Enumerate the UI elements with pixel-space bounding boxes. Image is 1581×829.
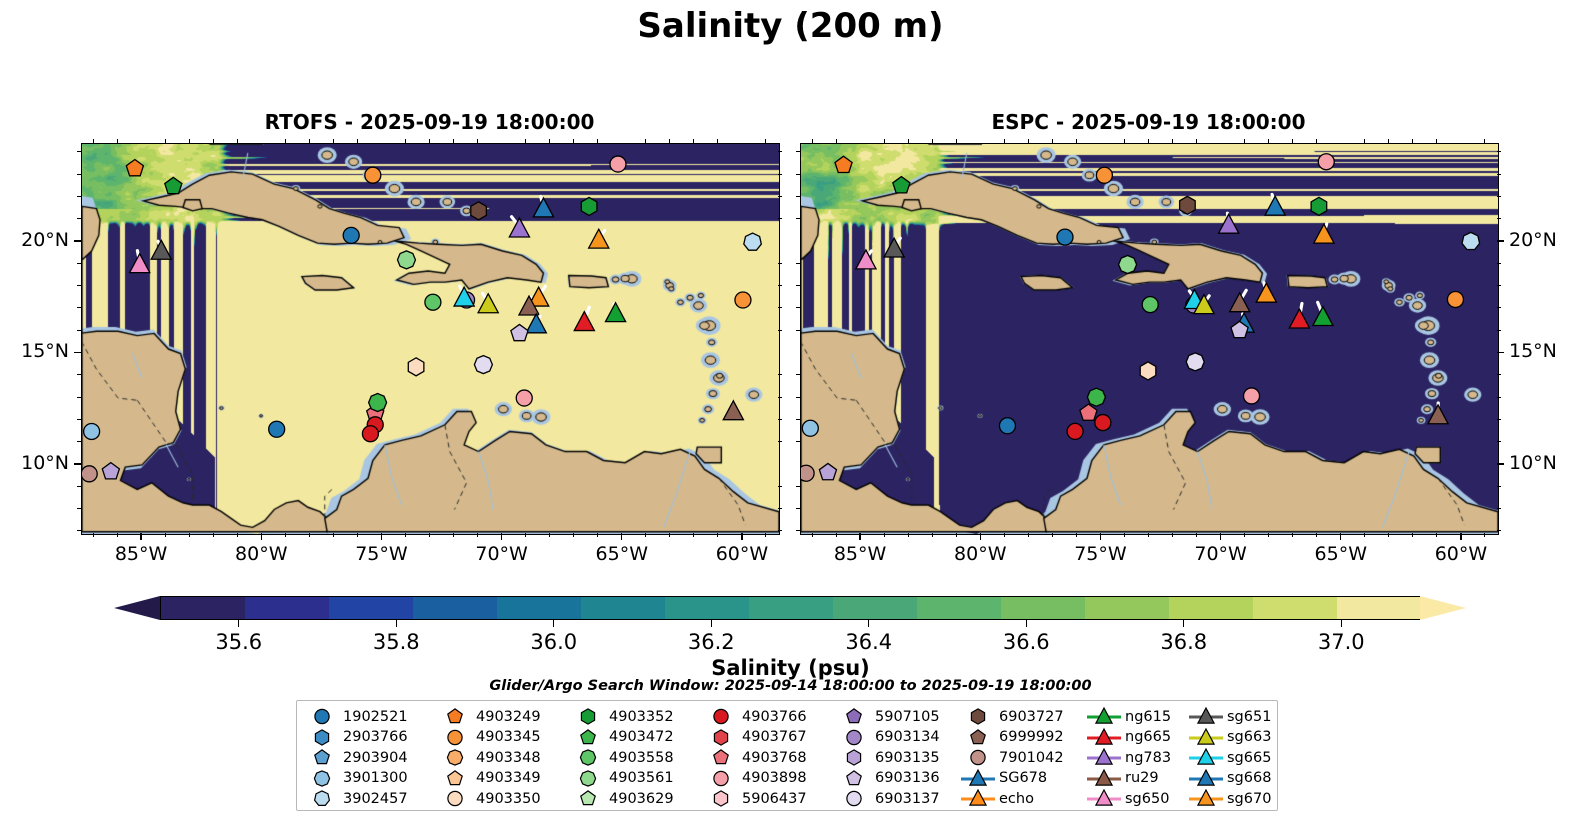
map-marker[interactable] — [471, 202, 487, 220]
x-minor-tick-top — [1268, 139, 1269, 143]
map-marker[interactable] — [1447, 291, 1463, 307]
map-marker[interactable] — [1180, 196, 1196, 214]
y-minor-tick — [1497, 330, 1501, 331]
legend-item[interactable]: 4903766 — [702, 706, 835, 727]
map-axes-espc[interactable] — [800, 143, 1499, 535]
colorbar-tick — [1341, 620, 1342, 627]
y-minor-tick — [1497, 486, 1501, 487]
x-minor-tick — [884, 533, 885, 537]
y-minor-tick-opp — [778, 174, 782, 175]
x-minor-tick — [765, 533, 766, 537]
legend-item[interactable]: sg651 — [1187, 706, 1285, 727]
y-minor-tick-opp — [796, 307, 800, 308]
map-marker[interactable] — [835, 156, 852, 172]
y-tick — [1497, 352, 1504, 353]
legend-item[interactable]: echo — [959, 788, 1085, 809]
map-marker[interactable] — [478, 294, 498, 313]
legend-item[interactable]: 6903134 — [835, 727, 959, 748]
map-marker[interactable] — [362, 426, 378, 442]
legend-item[interactable]: 4903472 — [569, 727, 702, 748]
x-minor-tick-top — [1484, 139, 1485, 143]
x-minor-tick — [1076, 533, 1077, 537]
x-minor-tick-top — [932, 139, 933, 143]
legend-item[interactable]: SG678 — [959, 768, 1085, 789]
legend-marker-icon — [702, 727, 740, 748]
map-marker[interactable] — [1057, 229, 1073, 245]
legend-item[interactable]: 3901300 — [303, 768, 436, 789]
map-marker[interactable] — [589, 229, 609, 248]
map-marker[interactable] — [126, 160, 143, 176]
y-tick — [1497, 463, 1504, 464]
legend-item[interactable]: ng783 — [1085, 747, 1187, 768]
y-minor-tick — [1497, 419, 1501, 420]
colorbar-tick-label: 37.0 — [1291, 630, 1391, 654]
map-marker[interactable] — [1095, 415, 1111, 431]
x-minor-tick-top — [189, 139, 190, 143]
legend-item-label: 5906437 — [740, 791, 807, 807]
legend-marker-icon — [569, 768, 607, 789]
x-minor-tick-top — [1076, 139, 1077, 143]
y-minor-tick — [77, 285, 81, 286]
x-minor-tick-top — [1388, 139, 1389, 143]
y-minor-tick-opp — [778, 218, 782, 219]
map-marker[interactable] — [1462, 232, 1480, 249]
map-marker[interactable] — [1318, 154, 1334, 170]
x-minor-tick — [477, 533, 478, 537]
legend-marker-icon — [1187, 706, 1225, 727]
map-marker[interactable] — [526, 314, 546, 333]
x-minor-tick-top — [1052, 139, 1053, 143]
colorbar-segment — [581, 597, 666, 619]
colorbar-tick — [396, 620, 397, 627]
y-minor-tick — [1497, 307, 1501, 308]
map-marker[interactable] — [1186, 353, 1204, 371]
map-marker[interactable] — [1080, 404, 1097, 420]
legend-marker-icon — [702, 768, 740, 789]
map-marker[interactable] — [533, 198, 553, 217]
legend-item-label: 4903561 — [607, 770, 674, 786]
legend-marker-icon — [702, 706, 740, 727]
legend-item[interactable]: 5906437 — [702, 788, 835, 809]
map-marker[interactable] — [1230, 293, 1250, 312]
x-minor-tick-top — [956, 139, 957, 143]
y-minor-tick — [77, 419, 81, 420]
legend-marker-icon — [303, 788, 341, 809]
x-tick — [859, 533, 860, 540]
map-marker[interactable] — [610, 156, 626, 172]
x-minor-tick — [1004, 533, 1005, 537]
y-minor-tick-opp — [778, 285, 782, 286]
map-marker[interactable] — [1219, 214, 1239, 233]
x-minor-tick-top — [477, 139, 478, 143]
legend-marker-icon — [436, 788, 474, 809]
legend-item-label: 3901300 — [341, 770, 408, 786]
legend-marker-icon — [436, 727, 474, 748]
legend-item[interactable]: 4903249 — [436, 706, 569, 727]
legend-item[interactable]: 4903629 — [569, 788, 702, 809]
y-minor-tick-opp — [796, 374, 800, 375]
x-minor-tick — [1148, 533, 1149, 537]
legend-item-label: 2903766 — [341, 729, 408, 745]
legend-marker-icon — [303, 768, 341, 789]
legend-item[interactable]: ng615 — [1085, 706, 1187, 727]
colorbar-extend-max — [1420, 596, 1466, 620]
y-minor-tick-opp — [778, 374, 782, 375]
y-minor-tick — [1497, 374, 1501, 375]
legend-marker-icon — [959, 706, 997, 727]
x-minor-tick-top — [597, 139, 598, 143]
x-minor-tick — [117, 533, 118, 537]
legend-item-label: SG678 — [997, 770, 1047, 786]
legend-item-label: sg651 — [1225, 709, 1271, 725]
legend-item[interactable]: 6903136 — [835, 768, 959, 789]
legend-item[interactable]: 4903349 — [436, 768, 569, 789]
y-minor-tick — [77, 441, 81, 442]
map-marker[interactable] — [509, 218, 529, 237]
x-minor-tick — [549, 533, 550, 537]
x-minor-tick — [597, 533, 598, 537]
x-minor-tick-top — [1004, 139, 1005, 143]
map-marker[interactable] — [802, 420, 818, 436]
legend-item[interactable]: ru29 — [1085, 768, 1187, 789]
legend-marker-icon — [1187, 788, 1225, 809]
legend-column-4: 49037664903767490376849038985906437 — [702, 701, 835, 810]
x-minor-tick — [1292, 533, 1293, 537]
legend-item[interactable]: 2903766 — [303, 727, 436, 748]
legend-item[interactable]: 2903904 — [303, 747, 436, 768]
legend-item[interactable]: sg665 — [1187, 747, 1285, 768]
legend-item[interactable]: sg663 — [1187, 727, 1285, 748]
legend-item-label: 4903768 — [740, 750, 807, 766]
x-minor-tick-top — [549, 139, 550, 143]
x-tick — [261, 533, 262, 540]
legend-marker-icon — [1085, 727, 1123, 748]
colorbar-tick-label: 36.6 — [976, 630, 1076, 654]
x-minor-tick-top — [117, 139, 118, 143]
colorbar-segment — [161, 597, 246, 619]
x-minor-tick-top — [1172, 139, 1173, 143]
x-minor-tick — [525, 533, 526, 537]
y-tick-label: 10°N — [0, 452, 69, 474]
y-minor-tick — [1497, 174, 1501, 175]
x-minor-tick — [908, 533, 909, 537]
legend-item[interactable]: 4903350 — [436, 788, 569, 809]
legend-item[interactable]: 6903727 — [959, 706, 1085, 727]
legend-item-label: echo — [997, 791, 1034, 807]
legend-item-label: 4903767 — [740, 729, 807, 745]
x-minor-tick — [429, 533, 430, 537]
map-marker[interactable] — [1314, 224, 1334, 243]
map-marker[interactable] — [151, 240, 171, 259]
colorbar-label: Salinity (psu) — [0, 656, 1581, 680]
x-minor-tick-top — [645, 139, 646, 143]
y-minor-tick — [1497, 151, 1501, 152]
x-minor-tick-top — [333, 139, 334, 143]
map-marker[interactable] — [102, 463, 119, 479]
x-minor-tick — [357, 533, 358, 537]
legend-item-label: 4903558 — [607, 750, 674, 766]
legend-item-label: 4903348 — [474, 750, 541, 766]
y-minor-tick — [77, 374, 81, 375]
legend-item[interactable]: 4903348 — [436, 747, 569, 768]
legend-item[interactable]: 6999992 — [959, 727, 1085, 748]
colorbar-segment — [329, 597, 414, 619]
x-tick — [621, 533, 622, 540]
legend-item-label: 1902521 — [341, 709, 408, 725]
x-minor-tick — [573, 533, 574, 537]
x-minor-tick-top — [357, 139, 358, 143]
map-marker[interactable] — [723, 401, 743, 420]
map-marker[interactable] — [581, 197, 597, 215]
legend-item[interactable]: 4903561 — [569, 768, 702, 789]
colorbar-segment — [665, 597, 750, 619]
legend-item[interactable]: 7901042 — [959, 747, 1085, 768]
map-marker[interactable] — [269, 421, 285, 437]
x-minor-tick-top — [669, 139, 670, 143]
x-minor-tick — [1436, 533, 1437, 537]
colorbar-tick-label: 36.4 — [819, 630, 919, 654]
legend-marker-icon — [436, 706, 474, 727]
x-minor-tick — [189, 533, 190, 537]
colorbar-tick — [1183, 620, 1184, 627]
y-tick — [1497, 240, 1504, 241]
y-minor-tick — [77, 263, 81, 264]
map-marker[interactable] — [893, 177, 910, 193]
legend-marker-icon — [1085, 768, 1123, 789]
legend-item-label: 5907105 — [873, 709, 940, 725]
map-marker[interactable] — [1096, 167, 1112, 183]
x-minor-tick-top — [1028, 139, 1029, 143]
map-marker[interactable] — [1428, 405, 1448, 424]
map-marker[interactable] — [425, 294, 441, 310]
legend-item[interactable]: 6903137 — [835, 788, 959, 809]
y-minor-tick — [77, 508, 81, 509]
legend-item[interactable]: ng665 — [1085, 727, 1187, 748]
map-marker[interactable] — [1142, 297, 1158, 313]
legend-item[interactable]: sg668 — [1187, 768, 1285, 789]
x-minor-tick-top — [908, 139, 909, 143]
x-minor-tick-top — [1244, 139, 1245, 143]
x-minor-tick-top — [165, 139, 166, 143]
marker-overlay-rtofs — [82, 144, 779, 534]
x-tick-label: 85°W — [820, 543, 900, 565]
x-minor-tick-top — [453, 139, 454, 143]
map-marker[interactable] — [744, 233, 762, 250]
y-minor-tick-opp — [796, 330, 800, 331]
x-minor-tick — [1196, 533, 1197, 537]
legend-item[interactable]: 4903768 — [702, 747, 835, 768]
map-marker[interactable] — [735, 292, 751, 308]
map-marker[interactable] — [1119, 256, 1137, 274]
y-minor-tick-opp — [796, 486, 800, 487]
legend-column-6: 690372769999927901042SG678echo — [959, 701, 1085, 810]
y-minor-tick-opp — [796, 508, 800, 509]
x-tick — [381, 533, 382, 540]
x-minor-tick-top — [237, 139, 238, 143]
colorbar-tick — [711, 620, 712, 627]
legend-marker-icon — [569, 727, 607, 748]
x-minor-tick-top — [93, 139, 94, 143]
legend-item-label: 4903629 — [607, 791, 674, 807]
y-minor-tick — [77, 486, 81, 487]
map-marker[interactable] — [82, 466, 97, 482]
map-marker[interactable] — [1087, 388, 1105, 406]
x-minor-tick-top — [884, 139, 885, 143]
colorbar-segment — [1169, 597, 1254, 619]
y-minor-tick — [1497, 441, 1501, 442]
y-minor-tick-opp — [796, 263, 800, 264]
x-minor-tick — [165, 533, 166, 537]
map-marker[interactable] — [365, 167, 381, 183]
map-marker[interactable] — [1265, 196, 1285, 215]
map-axes-rtofs[interactable] — [81, 143, 780, 535]
legend-marker-icon — [835, 727, 873, 748]
x-tick — [1340, 533, 1341, 540]
y-tick — [74, 463, 81, 464]
legend-item-label: ru29 — [1123, 770, 1159, 786]
x-minor-tick — [405, 533, 406, 537]
y-minor-tick — [77, 530, 81, 531]
legend-marker-icon — [835, 706, 873, 727]
x-tick — [741, 533, 742, 540]
x-minor-tick-top — [429, 139, 430, 143]
legend-item-label: 4903472 — [607, 729, 674, 745]
y-tick-label: 15°N — [0, 340, 69, 362]
legend-item[interactable]: 4903767 — [702, 727, 835, 748]
y-minor-tick-opp — [778, 530, 782, 531]
y-minor-tick — [77, 307, 81, 308]
colorbar-tick-label: 36.8 — [1134, 630, 1234, 654]
map-marker[interactable] — [474, 356, 492, 374]
map-marker[interactable] — [1067, 423, 1083, 439]
colorbar-tick — [553, 620, 554, 627]
legend-marker-icon — [1085, 706, 1123, 727]
legend-marker-icon — [959, 747, 997, 768]
colorbar-segment — [833, 597, 918, 619]
x-tick-label: 75°W — [1060, 543, 1140, 565]
y-minor-tick-opp — [796, 151, 800, 152]
legend-marker-icon — [303, 747, 341, 768]
map-marker[interactable] — [1313, 307, 1333, 326]
search-window-caption: Glider/Argo Search Window: 2025-09-14 18… — [0, 678, 1581, 694]
legend-column-3: 49033524903472490355849035614903629 — [569, 701, 702, 810]
map-marker[interactable] — [605, 303, 625, 322]
colorbar-tick-label: 35.6 — [189, 630, 289, 654]
map-marker[interactable] — [819, 463, 836, 479]
x-tick-label: 60°W — [1421, 543, 1501, 565]
x-minor-tick — [1388, 533, 1389, 537]
x-tick — [1460, 533, 1461, 540]
legend-item-label: 6903134 — [873, 729, 940, 745]
x-minor-tick — [93, 533, 94, 537]
map-marker[interactable] — [84, 423, 100, 439]
y-minor-tick-opp — [778, 397, 782, 398]
map-marker[interactable] — [999, 418, 1015, 434]
legend-marker-icon — [835, 768, 873, 789]
x-minor-tick — [309, 533, 310, 537]
x-minor-tick-top — [1364, 139, 1365, 143]
legend-item-label: 6903727 — [997, 709, 1064, 725]
map-marker[interactable] — [397, 251, 415, 269]
map-marker[interactable] — [1311, 197, 1327, 215]
map-marker[interactable] — [165, 177, 182, 193]
y-minor-tick-opp — [796, 530, 800, 531]
map-marker[interactable] — [1289, 309, 1309, 328]
legend-item[interactable]: sg650 — [1085, 788, 1187, 809]
legend-item[interactable]: 4903558 — [569, 747, 702, 768]
legend-item[interactable]: 1902521 — [303, 706, 436, 727]
legend-item-label: ng783 — [1123, 750, 1171, 766]
legend-marker-icon — [1187, 747, 1225, 768]
legend-item[interactable]: 6903135 — [835, 747, 959, 768]
legend-item[interactable]: 4903352 — [569, 706, 702, 727]
y-tick-label: 20°N — [1509, 229, 1557, 251]
x-minor-tick — [213, 533, 214, 537]
marker-overlay-espc — [801, 144, 1498, 534]
panel-title-espc: ESPC - 2025-09-19 18:00:00 — [800, 110, 1497, 134]
colorbar-tick — [238, 620, 239, 627]
y-minor-tick — [1497, 508, 1501, 509]
colorbar-tick-label: 36.2 — [661, 630, 761, 654]
map-marker[interactable] — [884, 238, 904, 257]
legend-marker-icon — [959, 727, 997, 748]
legend-item[interactable]: 5907105 — [835, 706, 959, 727]
map-marker[interactable] — [369, 394, 387, 412]
map-marker[interactable] — [1244, 388, 1260, 404]
map-marker[interactable] — [856, 250, 876, 269]
colorbar-segment — [413, 597, 498, 619]
map-marker[interactable] — [1256, 283, 1276, 302]
legend-column-5: 59071056903134690313569031366903137 — [835, 701, 959, 810]
y-tick — [74, 352, 81, 353]
legend-marker-icon — [303, 706, 341, 727]
map-marker[interactable] — [511, 324, 528, 340]
legend-item-label: 2903904 — [341, 750, 408, 766]
figure-canvas: Salinity (200 m) RTOFS - 2025-09-19 18:0… — [0, 0, 1581, 829]
y-minor-tick-opp — [778, 419, 782, 420]
colorbar-tick — [868, 620, 869, 627]
colorbar-tick-label: 35.8 — [346, 630, 446, 654]
y-minor-tick-opp — [796, 196, 800, 197]
legend-item[interactable]: 4903898 — [702, 768, 835, 789]
legend-item[interactable]: sg670 — [1187, 788, 1285, 809]
legend-item[interactable]: 4903345 — [436, 727, 569, 748]
map-marker[interactable] — [574, 312, 594, 331]
legend-item[interactable]: 3902457 — [303, 788, 436, 809]
map-marker[interactable] — [801, 465, 814, 481]
map-marker[interactable] — [408, 358, 424, 376]
x-minor-tick-top — [1316, 139, 1317, 143]
x-minor-tick-top — [693, 139, 694, 143]
legend-item-label: 6903136 — [873, 770, 940, 786]
legend-marker-icon — [1187, 727, 1225, 748]
legend-column-2: 49032494903345490334849033494903350 — [436, 701, 569, 810]
legend-marker-icon — [1085, 788, 1123, 809]
legend-marker-icon — [569, 747, 607, 768]
map-marker[interactable] — [516, 390, 532, 406]
x-minor-tick — [1124, 533, 1125, 537]
x-minor-tick — [1412, 533, 1413, 537]
x-minor-tick — [717, 533, 718, 537]
y-minor-tick-opp — [778, 151, 782, 152]
y-tick-label: 15°N — [1509, 340, 1557, 362]
map-marker[interactable] — [1140, 362, 1156, 380]
map-marker[interactable] — [343, 227, 359, 243]
x-minor-tick-top — [213, 139, 214, 143]
x-minor-tick — [237, 533, 238, 537]
legend-item-label: ng615 — [1123, 709, 1171, 725]
map-marker[interactable] — [130, 254, 150, 273]
